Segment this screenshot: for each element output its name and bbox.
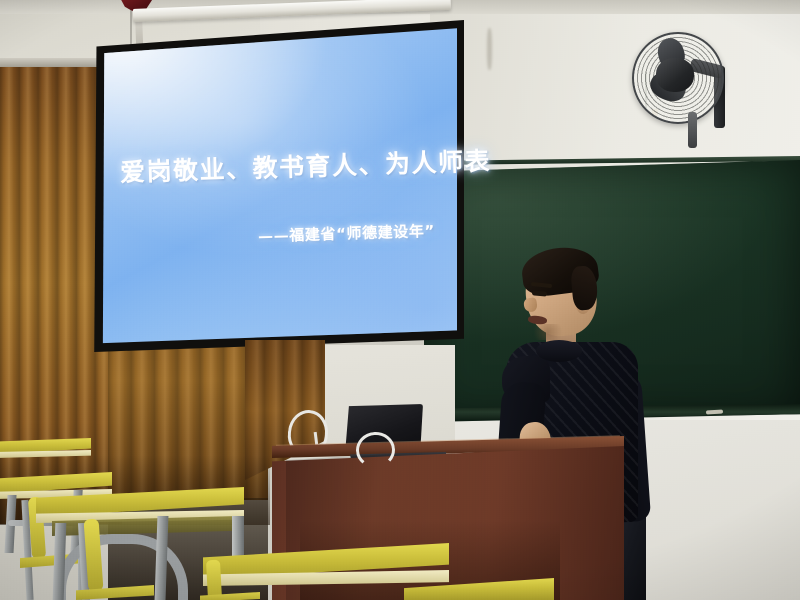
fan-hub (656, 58, 694, 92)
wall-smudge (487, 28, 492, 70)
presenter-chin-shadow (529, 324, 567, 340)
chair-backrest (206, 560, 222, 600)
fan-cord (688, 112, 697, 148)
wall-fan-icon (628, 28, 744, 136)
presenter-collar (536, 340, 582, 362)
classroom-photograph: 爱岗敬业、教书育人、为人师表 ——福建省“师德建设年” (0, 0, 800, 600)
